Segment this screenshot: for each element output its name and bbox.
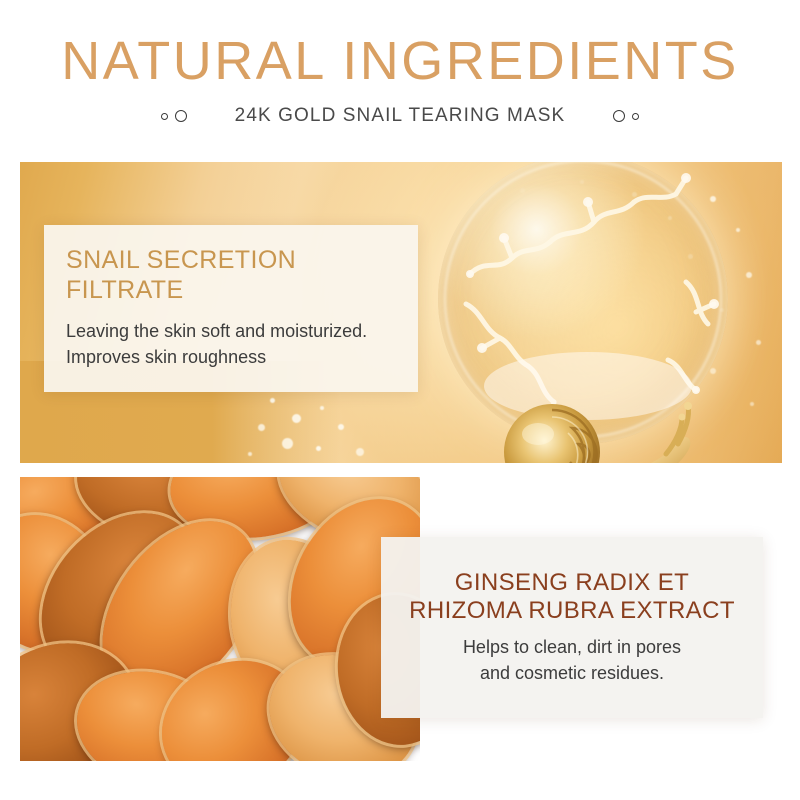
large-circle-icon xyxy=(175,110,187,122)
ginseng-card-title-line-2: RHIZOMA RUBRA EXTRACT xyxy=(409,597,735,625)
small-circle-icon xyxy=(632,113,639,120)
sphere-highlight-rim xyxy=(444,162,722,438)
page-subtitle: 24K GOLD SNAIL TEARING MASK xyxy=(235,105,566,127)
ginseng-text-card: GINSENG RADIX ET RHIZOMA RUBRA EXTRACT H… xyxy=(381,537,763,718)
small-circle-icon xyxy=(161,113,168,120)
snail-card-body: Leaving the skin soft and moisturized. I… xyxy=(66,319,367,370)
snail-illustration xyxy=(490,402,700,463)
page-title: NATURAL INGREDIENTS xyxy=(0,34,800,88)
ginseng-root-slices xyxy=(20,477,420,761)
ginseng-card-title-line-1: GINSENG RADIX ET xyxy=(409,569,735,597)
page-header: NATURAL INGREDIENTS 24K GOLD SNAIL TEARI… xyxy=(0,0,800,127)
ornament-dots-left xyxy=(161,110,187,122)
snail-card-title: SNAIL SECRETION FILTRATE xyxy=(66,246,418,305)
ginseng-card-body-line-1: Helps to clean, dirt in pores xyxy=(463,635,681,661)
ginseng-card-body-line-2: and cosmetic residues. xyxy=(463,661,681,687)
ingredient-panel-snail: SNAIL SECRETION FILTRATE Leaving the ski… xyxy=(20,162,782,463)
ginseng-card-title: GINSENG RADIX ET RHIZOMA RUBRA EXTRACT xyxy=(409,569,735,626)
ginseng-card-body: Helps to clean, dirt in pores and cosmet… xyxy=(463,635,681,686)
snail-text-card: SNAIL SECRETION FILTRATE Leaving the ski… xyxy=(44,225,418,392)
ingredient-panel-ginseng: GINSENG RADIX ET RHIZOMA RUBRA EXTRACT H… xyxy=(20,477,782,761)
snail-card-body-line-2: Improves skin roughness xyxy=(66,345,367,371)
snail-card-body-line-1: Leaving the skin soft and moisturized. xyxy=(66,319,367,345)
ornament-dots-right xyxy=(613,110,639,122)
subtitle-row: 24K GOLD SNAIL TEARING MASK xyxy=(0,105,800,127)
large-circle-icon xyxy=(613,110,625,122)
